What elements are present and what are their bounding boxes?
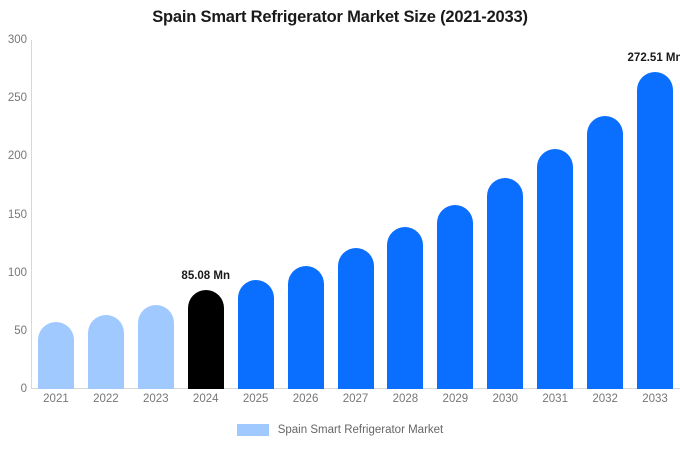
bar-2027[interactable] — [338, 248, 374, 389]
bar-2028[interactable] — [387, 227, 423, 389]
y-axis-tick-labels: 050100150200250300 — [0, 40, 27, 389]
legend-item[interactable]: Spain Smart Refrigerator Market — [237, 424, 444, 436]
bar-2033[interactable] — [637, 72, 673, 389]
x-axis-tick-label: 2029 — [443, 393, 469, 405]
y-axis-tick-label: 250 — [0, 92, 27, 104]
legend-swatch-icon — [237, 424, 269, 436]
chart-legend: Spain Smart Refrigerator Market — [0, 424, 680, 436]
bar-2029[interactable] — [437, 205, 473, 389]
bar-2023[interactable] — [138, 305, 174, 389]
bars-layer: 85.08 Mn272.51 Mn — [31, 40, 680, 389]
x-axis-tick-label: 2025 — [243, 393, 269, 405]
x-axis-tick-label: 2033 — [642, 393, 668, 405]
bar-2032[interactable] — [587, 116, 623, 389]
bar-2021[interactable] — [38, 322, 74, 389]
bar-value-label-2033: 272.51 Mn — [628, 52, 680, 64]
chart-container: Spain Smart Refrigerator Market Size (20… — [0, 0, 680, 450]
x-axis-tick-label: 2021 — [43, 393, 69, 405]
bar-2025[interactable] — [238, 280, 274, 389]
x-axis-tick-label: 2026 — [293, 393, 319, 405]
bar-2026[interactable] — [288, 266, 324, 389]
y-axis-tick-label: 100 — [0, 267, 27, 279]
x-axis-tick-label: 2023 — [143, 393, 169, 405]
chart-title: Spain Smart Refrigerator Market Size (20… — [0, 8, 680, 27]
y-axis-tick-label: 0 — [0, 383, 27, 395]
bar-2024[interactable] — [188, 290, 224, 389]
x-axis-tick-label: 2022 — [93, 393, 119, 405]
bar-value-label-2024: 85.08 Mn — [181, 270, 230, 282]
x-axis-tick-labels: 2021202220232024202520262027202820292030… — [31, 393, 680, 413]
x-axis-tick-label: 2030 — [492, 393, 518, 405]
y-axis-tick-label: 150 — [0, 209, 27, 221]
bar-2022[interactable] — [88, 315, 124, 389]
x-axis-tick-label: 2028 — [393, 393, 419, 405]
bar-2031[interactable] — [537, 149, 573, 389]
bar-2030[interactable] — [487, 178, 523, 389]
x-axis-tick-label: 2031 — [542, 393, 568, 405]
y-axis-tick-label: 300 — [0, 34, 27, 46]
x-axis-tick-label: 2027 — [343, 393, 369, 405]
y-axis-tick-label: 200 — [0, 150, 27, 162]
legend-item-label: Spain Smart Refrigerator Market — [278, 424, 444, 436]
x-axis-tick-label: 2032 — [592, 393, 618, 405]
y-axis-tick-label: 50 — [0, 325, 27, 337]
x-axis-tick-label: 2024 — [193, 393, 219, 405]
